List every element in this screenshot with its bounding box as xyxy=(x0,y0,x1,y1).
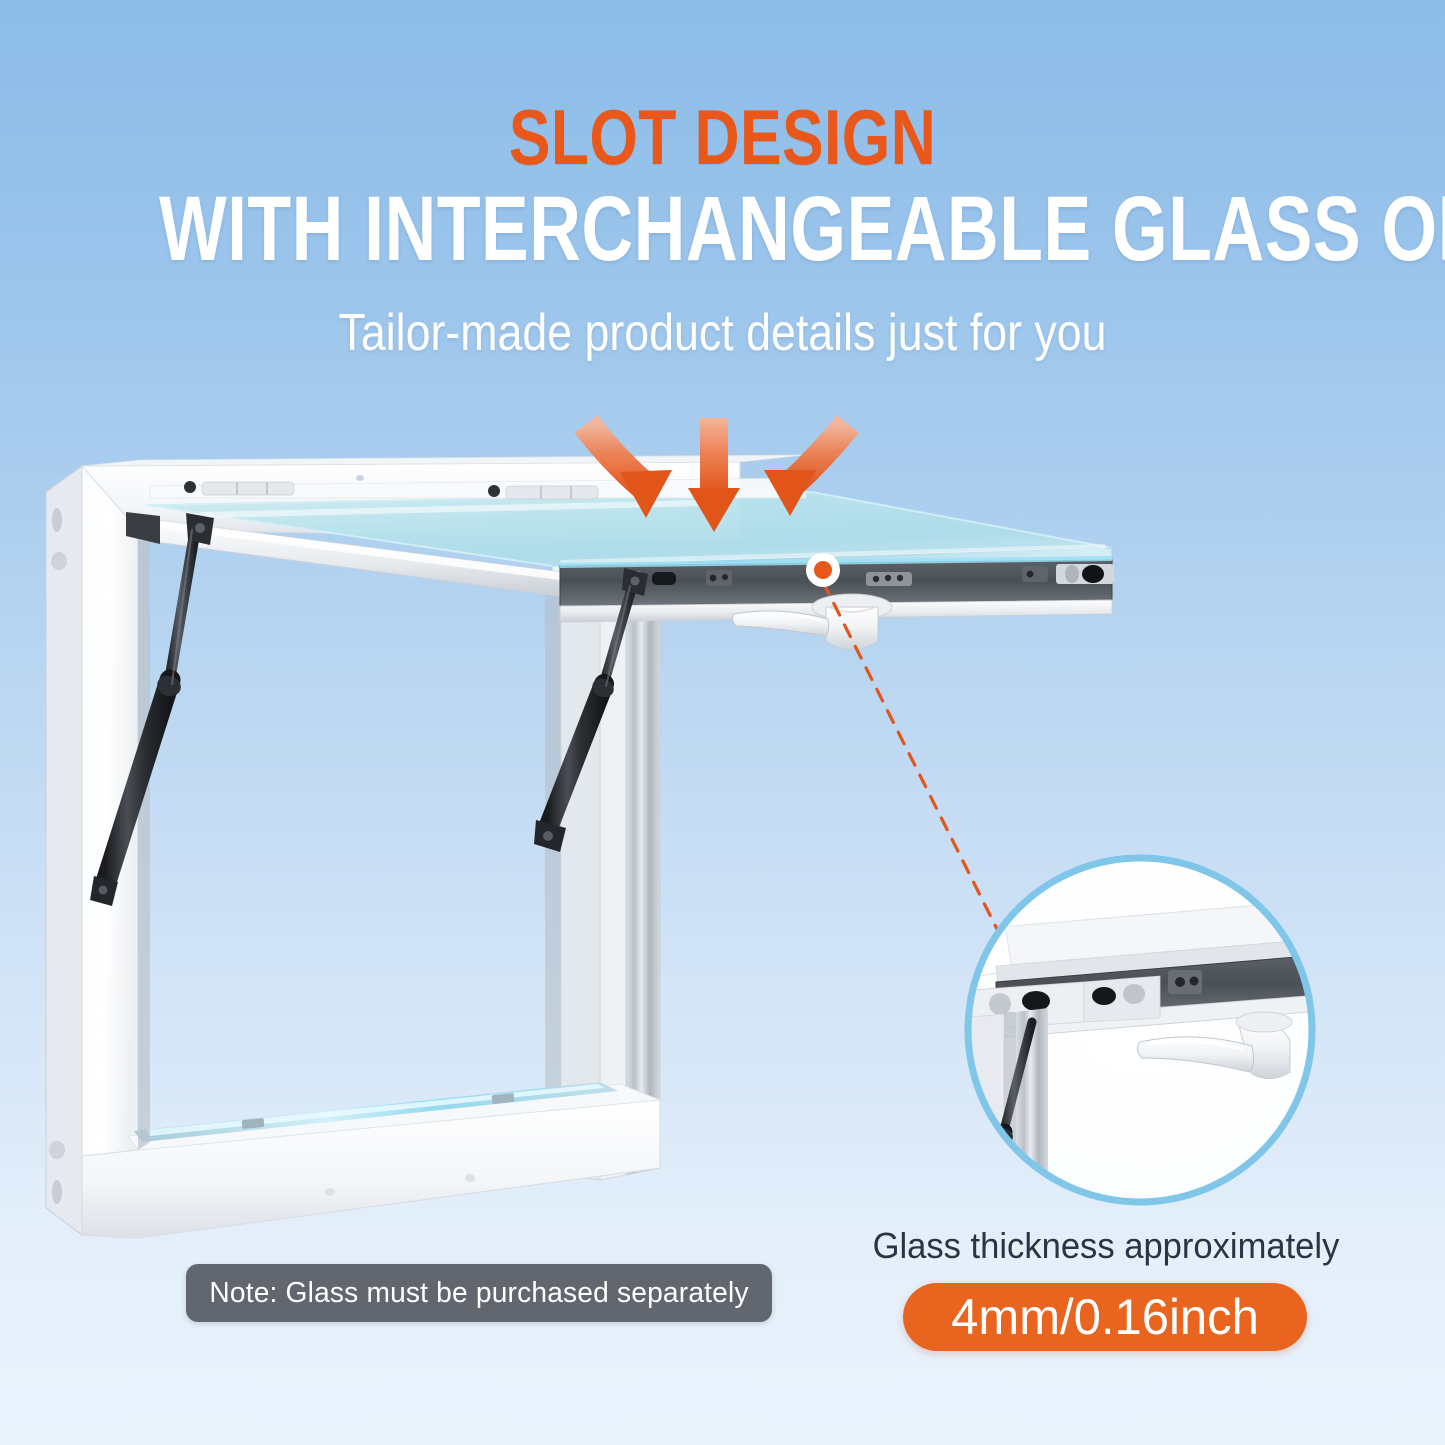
frame-left-side-face xyxy=(46,466,82,1235)
thickness-label: Glass thickness approximately xyxy=(856,1225,1355,1267)
rail-hole-icon xyxy=(1065,565,1079,583)
sill-screw-icon xyxy=(465,1174,475,1182)
thickness-pill: 4mm/0.16inch xyxy=(903,1283,1307,1351)
detail-handle-rose xyxy=(1236,1012,1292,1032)
tilt-sash-assembly xyxy=(126,471,1114,622)
sill-screw-icon xyxy=(325,1188,335,1196)
rail-slot-icon xyxy=(652,572,676,585)
frame-right-jamb-reveal xyxy=(626,566,660,1175)
rail-bracket-icon xyxy=(1022,566,1048,582)
mount-hole-icon xyxy=(51,552,67,570)
head-screw-icon xyxy=(356,475,364,481)
promo-image: SLOT DESIGN WITH INTERCHANGEABLE GLASS O… xyxy=(0,0,1445,1445)
detail-rail-slot-icon xyxy=(1022,991,1050,1011)
rail-screw-icon xyxy=(710,575,717,582)
thickness-value: 4mm/0.16inch xyxy=(951,1288,1259,1346)
frame-right-shadow xyxy=(545,576,561,1176)
slot-location-dot xyxy=(814,561,832,579)
mount-slot-icon xyxy=(52,508,62,532)
rail-screw-icon xyxy=(1027,571,1034,578)
note-badge: Note: Glass must be purchased separately xyxy=(186,1264,772,1322)
rail-screw-icon xyxy=(885,575,891,581)
detail-rail-hole-icon xyxy=(1123,984,1145,1004)
rail-slot-icon xyxy=(1082,565,1104,583)
zoomed-slot-detail xyxy=(960,858,1332,1212)
detail-rail-slot-icon xyxy=(1092,987,1116,1005)
frame-inner-reveal xyxy=(138,530,150,1150)
note-badge-label: Note: Glass must be purchased separately xyxy=(209,1277,748,1310)
detail-rail-hole-icon xyxy=(989,993,1011,1015)
detail-screw-icon xyxy=(1175,977,1185,987)
detail-screw-icon xyxy=(1190,977,1199,986)
rail-screw-icon xyxy=(722,574,728,580)
rail-screw-icon xyxy=(873,576,879,582)
mount-hole-icon xyxy=(49,1141,65,1159)
rail-screw-icon xyxy=(897,575,903,581)
mount-slot-icon xyxy=(52,1180,62,1204)
handle-collar xyxy=(826,607,878,650)
callout-dashed-line xyxy=(823,582,1000,935)
detail-strut-body xyxy=(988,1132,1004,1196)
